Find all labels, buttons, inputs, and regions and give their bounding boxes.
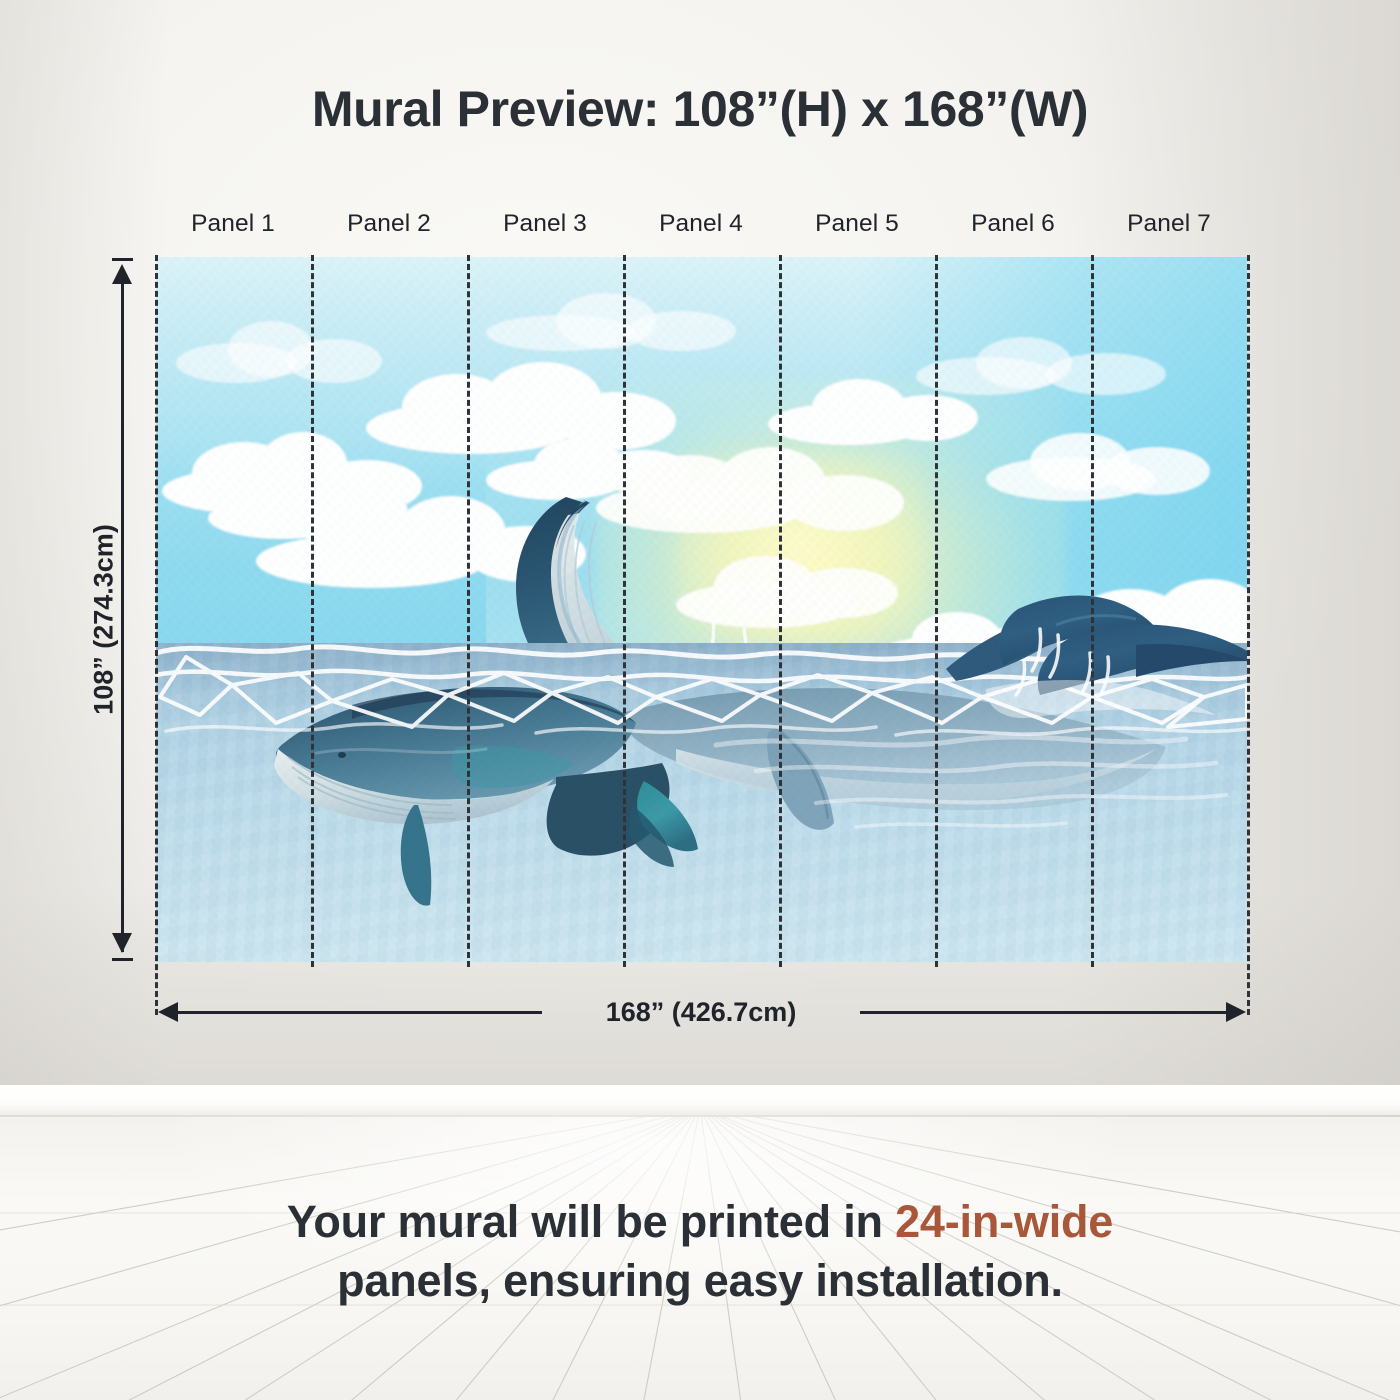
mural-preview-page: Mural Preview: 108”(H) x 168”(W) (0, 0, 1400, 1400)
panel-label-4: Panel 4 (623, 210, 779, 238)
caption-accent: 24-in-wide (895, 1196, 1113, 1247)
height-dimension-arrow-down (112, 933, 132, 953)
panel-divider-4 (779, 255, 782, 967)
panel-divider-5 (935, 255, 938, 967)
caption: Your mural will be printed in 24-in-wide… (0, 1193, 1400, 1310)
page-title: Mural Preview: 108”(H) x 168”(W) (0, 80, 1400, 138)
panel-divider-3 (623, 255, 626, 967)
mural-artwork-preview (156, 257, 1247, 962)
height-dimension-cap-bottom (112, 958, 133, 961)
width-dimension-line-left (172, 1011, 542, 1014)
height-dimension-cap-top (112, 258, 133, 261)
baseboard (0, 1085, 1400, 1117)
width-dimension-arrow-right (1226, 1002, 1246, 1022)
panel-label-7: Panel 7 (1091, 210, 1247, 238)
panel-label-6: Panel 6 (935, 210, 1091, 238)
caption-line2: panels, ensuring easy installation. (337, 1255, 1063, 1306)
panel-divider-6 (1091, 255, 1094, 967)
panel-divider-2 (467, 255, 470, 967)
height-dimension-label: 108” (274.3cm) (89, 440, 120, 800)
panel-label-2: Panel 2 (311, 210, 467, 238)
caption-line1-before: Your mural will be printed in (287, 1196, 895, 1247)
width-dimension-label: 168” (426.7cm) (542, 997, 860, 1028)
height-dimension-line (121, 268, 124, 952)
width-dimension-line-right (860, 1011, 1232, 1014)
panel-edge-right (1247, 255, 1250, 1015)
panel-label-3: Panel 3 (467, 210, 623, 238)
panel-label-5: Panel 5 (779, 210, 935, 238)
artwork-paper-texture (156, 257, 1247, 962)
panel-edge-left (155, 255, 158, 1015)
panel-label-1: Panel 1 (155, 210, 311, 238)
panel-divider-1 (311, 255, 314, 967)
